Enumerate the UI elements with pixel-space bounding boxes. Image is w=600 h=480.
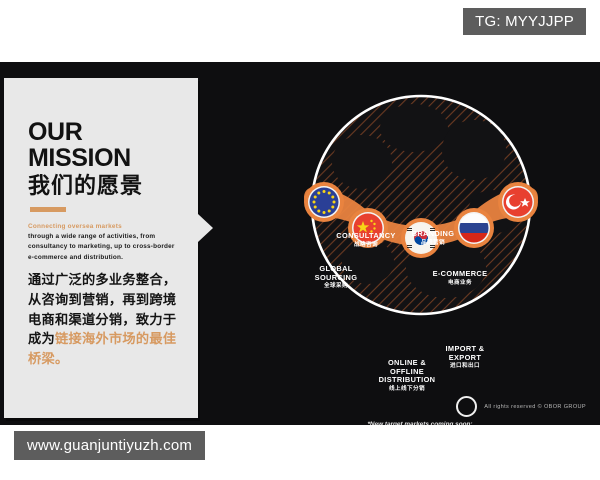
label-import-export-en-2: EXPORT — [434, 354, 496, 363]
label-e-commerce-cn: 电商业务 — [428, 280, 492, 287]
copyright-text: All rights reserved © OBOR GROUP — [484, 404, 586, 410]
flag-turkey — [498, 182, 538, 222]
label-branding: BRANDING 品牌营销 — [404, 230, 462, 246]
heading-chinese: 我们的愿景 — [28, 173, 180, 198]
label-import-export: IMPORT & EXPORT 进口和出口 — [434, 345, 496, 370]
label-global-sourcing-cn: 全球采购 — [307, 283, 365, 290]
label-global-sourcing: GLOBAL SOURCING 全球采购 — [307, 265, 365, 290]
slide-canvas: OUR MISSION 我们的愿景 Connecting oversea mar… — [0, 62, 600, 425]
label-online-offline-en-3: DISTRIBUTION — [368, 376, 446, 385]
label-branding-cn: 品牌营销 — [404, 240, 462, 247]
label-consultancy-en: CONSULTANCY — [333, 232, 399, 241]
label-e-commerce: E-COMMERCE 电商业务 — [428, 270, 492, 286]
english-body: through a wide range of activities, from… — [28, 232, 180, 263]
label-online-offline-cn: 线上线下分销 — [368, 386, 446, 393]
arrow-right-icon — [198, 214, 213, 242]
copyright-block: All rights reserved © OBOR GROUP — [456, 396, 586, 417]
heading-our: OUR — [28, 120, 180, 146]
label-consultancy-cn: 战略咨询 — [333, 242, 399, 249]
mission-card-content: OUR MISSION 我们的愿景 Connecting oversea mar… — [4, 78, 198, 369]
label-import-export-cn: 进口和出口 — [434, 363, 496, 370]
chinese-body: 通过广泛的多业务整合，从咨询到营销，再到跨境电商和渠道分销，致力于成为链接海外市… — [28, 270, 180, 369]
mission-card: OUR MISSION 我们的愿景 Connecting oversea mar… — [4, 78, 198, 418]
english-highlight: Connecting oversea markets — [28, 222, 180, 232]
heading-mission: MISSION — [28, 146, 180, 172]
label-e-commerce-en: E-COMMERCE — [428, 270, 492, 279]
globe-diagram — [296, 80, 546, 330]
watermark-bottom-left: www.guanjuntiyuzh.com — [14, 431, 205, 460]
label-global-sourcing-en-2: SOURCING — [307, 274, 365, 283]
label-consultancy: CONSULTANCY 战略咨询 — [333, 232, 399, 248]
label-branding-en: BRANDING — [404, 230, 462, 239]
footnote-line-1: *New target markets coming soon: — [335, 420, 505, 425]
accent-rule — [30, 207, 66, 212]
diagram-footnote: *New target markets coming soon: Russia … — [335, 420, 505, 425]
watermark-top-right: TG: MYYJJPP — [463, 8, 586, 35]
flag-european-union — [304, 182, 344, 222]
obor-ring-logo-icon — [456, 396, 477, 417]
